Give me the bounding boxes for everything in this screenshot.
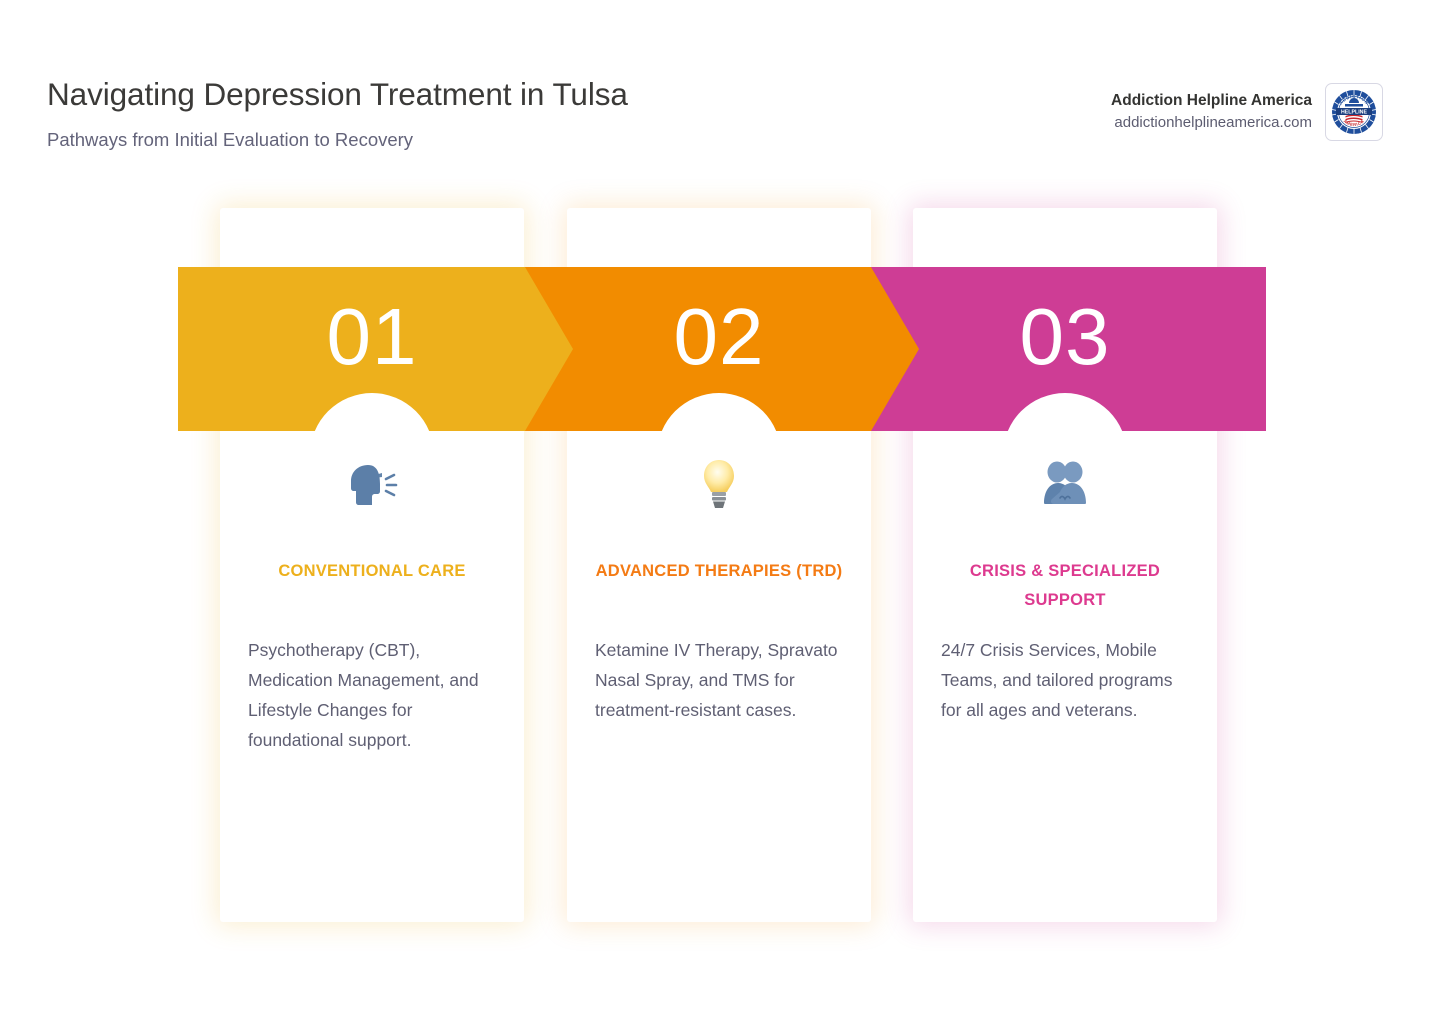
helpline-seal-icon: HELPLINE ADDICTION AMERICA	[1329, 87, 1379, 137]
step-card-1[interactable]: CONVENTIONAL CARE Psychotherapy (CBT), M…	[220, 208, 524, 922]
step-cards: CONVENTIONAL CARE Psychotherapy (CBT), M…	[0, 208, 1440, 922]
brand-text: Addiction Helpline America addictionhelp…	[1111, 90, 1312, 134]
step-card-2[interactable]: ADVANCED THERAPIES (TRD) Ketamine IV The…	[567, 208, 871, 922]
people-hugging-icon	[913, 455, 1217, 513]
header: Navigating Depression Treatment in Tulsa…	[0, 0, 1440, 180]
infographic-canvas: Navigating Depression Treatment in Tulsa…	[0, 0, 1440, 1024]
step-heading-3: CRISIS & SPECIALIZED SUPPORT	[941, 557, 1189, 616]
brand-name: Addiction Helpline America	[1111, 90, 1312, 112]
page-subtitle: Pathways from Initial Evaluation to Reco…	[47, 129, 628, 151]
step-description-2: Ketamine IV Therapy, Spravato Nasal Spra…	[595, 635, 845, 725]
brand-url: addictionhelplineamerica.com	[1111, 112, 1312, 134]
light-bulb-icon	[567, 455, 871, 513]
brand-block: Addiction Helpline America addictionhelp…	[1111, 83, 1383, 141]
step-card-3[interactable]: CRISIS & SPECIALIZED SUPPORT 24/7 Crisis…	[913, 208, 1217, 922]
logo-middle-text: HELPLINE	[1341, 109, 1367, 115]
step-heading-1: CONVENTIONAL CARE	[248, 557, 496, 586]
page-title: Navigating Depression Treatment in Tulsa	[47, 76, 628, 112]
title-block: Navigating Depression Treatment in Tulsa…	[47, 76, 628, 151]
step-description-1: Psychotherapy (CBT), Medication Manageme…	[248, 635, 498, 755]
step-description-3: 24/7 Crisis Services, Mobile Teams, and …	[941, 635, 1191, 725]
step-heading-2: ADVANCED THERAPIES (TRD)	[595, 557, 843, 586]
speaking-head-icon	[220, 455, 524, 513]
brand-logo: HELPLINE ADDICTION AMERICA	[1325, 83, 1383, 141]
